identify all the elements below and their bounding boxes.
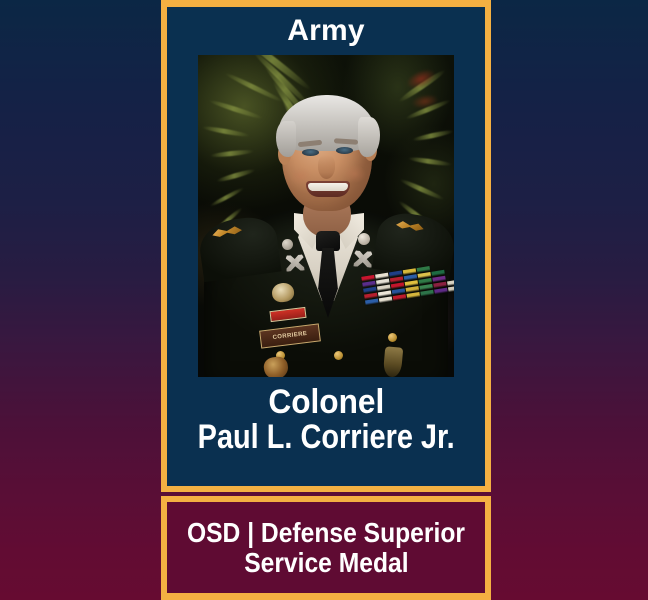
us-collar-disc-icon [358,233,370,245]
honoree-name-block: Colonel Paul L. Corriere Jr. [167,377,485,486]
eye-right [336,147,353,154]
award-line-2: Service Medal [244,548,408,578]
ribbon [393,294,407,301]
nose [318,155,335,179]
ribbon [434,288,448,295]
ribbon [447,279,454,286]
uniform-shoulder-left [198,214,282,282]
uniform-button [388,333,397,342]
teeth [308,183,348,191]
lapel-disc-icon [282,239,293,250]
honoree-photo: CORRIERE [198,55,454,377]
ribbon [379,296,393,303]
uniform-button [334,351,343,360]
award-line-1: OSD | Defense Superior [187,518,465,548]
honoree-name: Paul L. Corriere Jr. [197,420,454,455]
smiling-mouth [306,181,350,197]
award-caption-panel: OSD | Defense Superior Service Medal [161,496,491,600]
photo-subject: CORRIERE [198,55,454,377]
ribbon [406,292,420,299]
branch-label: Army [287,16,365,46]
nametag-text: CORRIERE [272,331,307,341]
honoree-card: Army [161,0,491,600]
ribbon [365,299,379,306]
ribbon [448,285,454,292]
eye-left [302,149,319,156]
ribbon [420,290,434,297]
hair-side-left [276,121,296,157]
page-background: Army [0,0,648,600]
card-main-panel: Army [161,0,491,492]
honoree-rank: Colonel [268,385,384,420]
